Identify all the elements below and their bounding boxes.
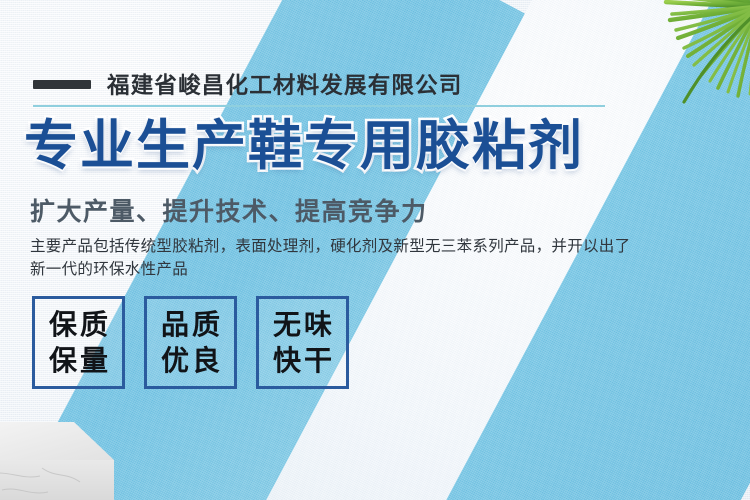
subtitle: 扩大产量、提升技术、提高竞争力 (30, 192, 428, 228)
promo-banner: 福建省峻昌化工材料发展有限公司 专业生产鞋专用胶粘剂 扩大产量、提升技术、提高竞… (0, 0, 750, 500)
dash-mark-icon (33, 80, 91, 89)
company-row: 福建省峻昌化工材料发展有限公司 (33, 68, 463, 100)
page-title: 专业生产鞋专用胶粘剂 (24, 119, 584, 173)
feature-box-3-line2: 快干 (270, 343, 335, 378)
feature-box-1: 保质 保量 (32, 296, 125, 389)
feature-box-2-line1: 品质 (158, 307, 223, 342)
feature-box-2: 品质 优良 (144, 296, 237, 389)
banner-content: 福建省峻昌化工材料发展有限公司 专业生产鞋专用胶粘剂 扩大产量、提升技术、提高竞… (0, 0, 750, 500)
feature-box-1-line2: 保量 (46, 343, 111, 378)
company-name: 福建省峻昌化工材料发展有限公司 (107, 68, 463, 100)
feature-box-3-line1: 无味 (270, 307, 335, 342)
description-paragraph: 主要产品包括传统型胶粘剂，表面处理剂，硬化剂及新型无三苯系列产品，并开以出了新一… (30, 235, 640, 281)
feature-box-2-line2: 优良 (158, 343, 223, 378)
horizontal-rule (33, 105, 605, 107)
feature-box-1-line1: 保质 (46, 307, 111, 342)
feature-box-list: 保质 保量 品质 优良 无味 快干 (32, 296, 349, 389)
feature-box-3: 无味 快干 (256, 296, 349, 389)
